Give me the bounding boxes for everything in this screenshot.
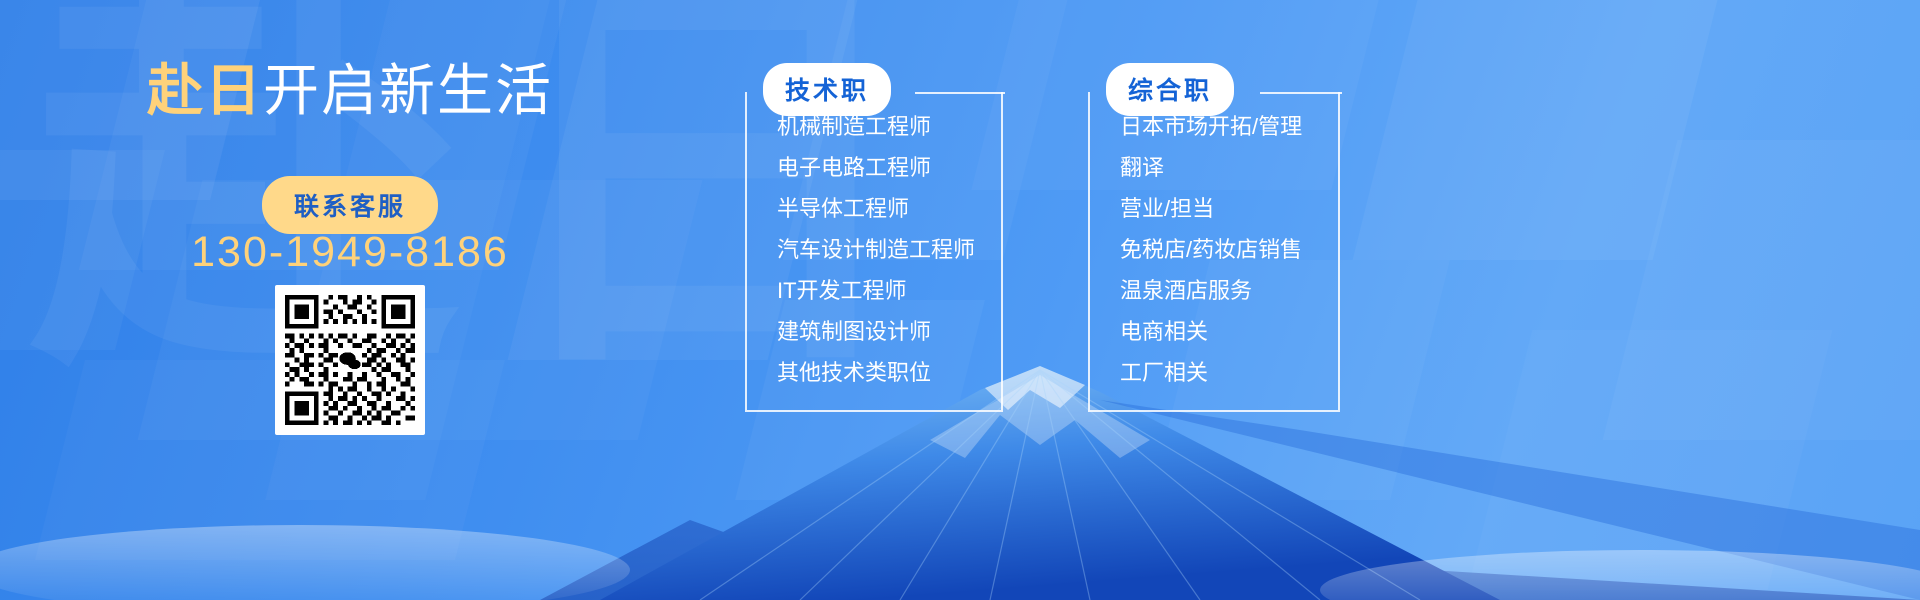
- panel-tech-list: 机械制造工程师 电子电路工程师 半导体工程师 汽车设计制造工程师 IT开发工程师…: [745, 92, 1003, 412]
- job-item[interactable]: 机械制造工程师: [747, 116, 1001, 138]
- job-item[interactable]: 其他技术类职位: [747, 362, 1001, 384]
- headline-rest: 开启新生活: [263, 59, 553, 122]
- hero-left-column: 赴日开启新生活 联系客服 130-1949-8186: [0, 0, 700, 600]
- panel-tech-jobs: 技术职 机械制造工程师 电子电路工程师 半导体工程师 汽车设计制造工程师 IT开…: [745, 92, 1003, 412]
- contact-support-button[interactable]: 联系客服: [262, 176, 438, 234]
- panel-tech-badge[interactable]: 技术职: [763, 63, 891, 116]
- job-item[interactable]: 汽车设计制造工程师: [747, 239, 1001, 261]
- job-item[interactable]: 翻译: [1090, 157, 1338, 179]
- job-item[interactable]: 建筑制图设计师: [747, 321, 1001, 343]
- job-item[interactable]: IT开发工程师: [747, 280, 1001, 302]
- qr-code-image: [280, 290, 420, 430]
- job-item[interactable]: 电子电路工程师: [747, 157, 1001, 179]
- job-item[interactable]: 免税店/药妆店销售: [1090, 239, 1338, 261]
- phone-number[interactable]: 130-1949-8186: [0, 228, 700, 277]
- job-item[interactable]: 温泉酒店服务: [1090, 280, 1338, 302]
- promo-banner: 赴日: [0, 0, 1920, 600]
- panel-general-badge[interactable]: 综合职: [1106, 63, 1234, 116]
- qr-code[interactable]: [275, 285, 425, 435]
- panel-tech-top-border: [915, 92, 1005, 94]
- headline-highlight: 赴日: [147, 59, 263, 122]
- job-item[interactable]: 营业/担当: [1090, 198, 1338, 220]
- page-title: 赴日开启新生活: [0, 46, 700, 127]
- panel-general-jobs: 综合职 日本市场开拓/管理 翻译 营业/担当 免税店/药妆店销售 温泉酒店服务 …: [1088, 92, 1340, 412]
- panel-general-list: 日本市场开拓/管理 翻译 营业/担当 免税店/药妆店销售 温泉酒店服务 电商相关…: [1088, 92, 1340, 412]
- job-item[interactable]: 半导体工程师: [747, 198, 1001, 220]
- job-item[interactable]: 日本市场开拓/管理: [1090, 116, 1338, 138]
- job-item[interactable]: 工厂相关: [1090, 362, 1338, 384]
- job-item[interactable]: 电商相关: [1090, 321, 1338, 343]
- panel-general-top-border: [1260, 92, 1342, 94]
